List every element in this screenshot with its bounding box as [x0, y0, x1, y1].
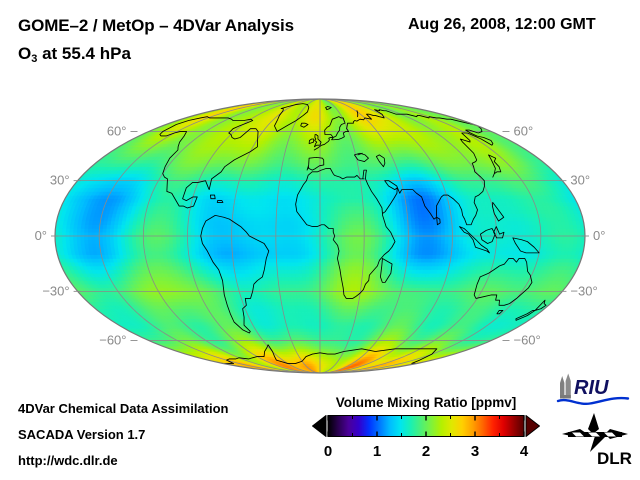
- colorbar-svg: 01234: [312, 415, 540, 473]
- riu-wordmark: RIU: [574, 377, 609, 399]
- pressure-level-label: at 55.4 hPa: [37, 44, 131, 63]
- latitude-label-left: 30°: [50, 173, 70, 188]
- species-subscript: 3: [31, 53, 37, 65]
- page-subtitle: O3 at 55.4 hPa: [18, 44, 131, 64]
- footer-version: SACADA Version 1.7: [18, 427, 145, 442]
- dlr-star-icon: [562, 413, 628, 452]
- latitude-label-left: −30°: [42, 283, 69, 298]
- timestamp: Aug 26, 2008, 12:00 GMT: [408, 16, 596, 34]
- species-label: O: [18, 44, 31, 63]
- colorbar-tick-label: 2: [422, 443, 430, 460]
- world-map: 60°30°0°−30°−60°60°30°0°−30°−60°: [0, 80, 640, 390]
- colorbar-left-arrow: [313, 416, 327, 437]
- colorbar-tick-label: 3: [471, 443, 479, 460]
- riu-tower-icon: [560, 374, 571, 399]
- colorbar-tick-label: 0: [324, 443, 332, 460]
- mollweide-map-svg: 60°30°0°−30°−60°60°30°0°−30°−60°: [0, 80, 640, 390]
- footer-url[interactable]: http://wdc.dlr.de: [18, 453, 118, 468]
- riu-logo: RIU: [556, 372, 632, 408]
- latitude-label-left: 60°: [107, 124, 127, 139]
- latitude-label-right: 30°: [570, 173, 590, 188]
- dlr-logo-svg: DLR: [560, 412, 632, 470]
- colorbar-tick-labels: 01234: [324, 443, 529, 460]
- colorbar-tick-label: 1: [373, 443, 381, 460]
- page-title: GOME–2 / MetOp – 4DVar Analysis: [18, 16, 294, 36]
- riu-logo-svg: RIU: [556, 372, 632, 408]
- colorbar-right-arrow: [526, 416, 540, 437]
- colorbar: Volume Mixing Ratio [ppmv] 01234: [312, 395, 540, 475]
- footer-description: 4DVar Chemical Data Assimilation: [18, 401, 229, 416]
- latitude-label-left: −60°: [99, 332, 126, 347]
- latitude-label-left: 0°: [35, 228, 47, 243]
- dlr-logo: DLR: [560, 412, 632, 470]
- colorbar-title: Volume Mixing Ratio [ppmv]: [312, 395, 540, 410]
- colorbar-tick-label: 4: [520, 443, 529, 460]
- latitude-label-right: 0°: [593, 228, 605, 243]
- latitude-label-right: 60°: [513, 124, 533, 139]
- dlr-wordmark: DLR: [597, 449, 632, 468]
- latitude-label-right: −60°: [513, 332, 540, 347]
- latitude-label-right: −30°: [570, 283, 597, 298]
